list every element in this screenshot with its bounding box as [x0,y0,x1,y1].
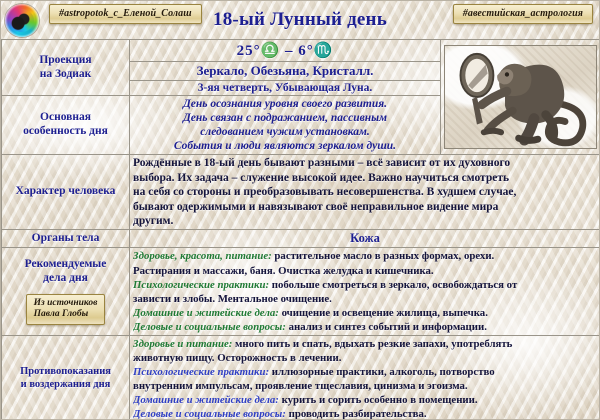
list-item: внутренним импульсам, проявление тщеслав… [133,379,597,393]
row-label-character: Характер человека [2,155,130,230]
source-globa-badge: Из источниковПавла Глобы [26,294,106,325]
list-item: Психологические практики: иллюзорные пра… [133,365,597,379]
row-label-recommended: Рекомендуемыедела дня Из источниковПавла… [2,248,130,335]
row-label-body-organs: Органы тела [2,230,130,248]
row-value-main-feature: День осознания уровня своего развития. Д… [130,96,441,155]
item-key: Здоровье и питание: [133,338,232,350]
item-text: внутренним импульсам, проявление тщеслав… [133,380,468,392]
item-key: Домашние и житейские дела: [133,307,279,319]
list-item: Деловые и социальные вопросы: анализ и с… [133,320,597,334]
item-key: Здоровье, красота, питание: [133,250,272,262]
text-line: бывают одержимыми и навязывают своё непр… [133,200,597,214]
list-item: Деловые и социальные вопросы: проводить … [133,407,597,420]
header: #astropotok_с_Еленой_Солаш 18-ый Лунный … [1,1,599,39]
row-value-contraindications: Здоровье и питание: много пить и спать, … [130,335,600,420]
item-key: Домашние и житейские дела: [133,394,279,406]
item-key: Психологические практики: [133,366,269,378]
text-line: следованием чужим установкам. [133,125,437,139]
text-line: День связан с подражанием, пассивным [133,111,437,125]
item-text: зависти и злобы. Ментальное очищение. [133,293,332,305]
item-text: животную пищу. Осторожность в лечении. [133,352,341,364]
monkey-with-mirror-illustration [441,40,600,155]
item-text: побольше смотреться в зеркало, освобожда… [272,279,517,291]
text-line: События и люди являются зеркалом души. [133,139,437,153]
list-item: Здоровье и питание: много пить и спать, … [133,337,597,351]
item-text: анализ и синтез событий и информации. [289,321,487,333]
hashtag-topic-badge: #авестийская_астрология [453,4,593,24]
list-item: Домашние и житейские дела: очищение и ос… [133,306,597,320]
item-text: много пить и спать, вдыхать резкие запах… [235,338,512,350]
row-value-body-organs: Кожа [130,230,600,248]
item-text: Растирания и массажи, баня. Очистка желу… [133,265,434,277]
item-text: проводить разбирательства. [289,408,427,420]
list-item: животную пищу. Осторожность в лечении. [133,351,597,365]
item-text: иллюзорные практики, алкоголь, потворств… [272,366,495,378]
table-row: Характер человека Рождённые в 18-ый день… [2,155,600,230]
list-item: зависти и злобы. Ментальное очищение. [133,292,597,306]
lunar-day-table: Проекцияна Зодиак 25°♎ – 6°♏ [1,39,600,420]
row-value-projection: 25°♎ – 6°♏ [130,40,441,62]
item-text: курить и сорить особенно в помещении. [282,394,478,406]
list-item: Домашние и житейские дела: курить и сори… [133,393,597,407]
item-text: растительное масло в разных формах, орех… [274,250,494,262]
table-row: Органы тела Кожа [2,230,600,248]
row-label-recommended-text: Рекомендуемыедела дня [5,258,126,285]
row-label-main-feature: Основнаяособенность дня [2,96,130,155]
text-line: Рождённые в 18-ый день бывают разными – … [133,156,597,170]
item-key: Психологические практики: [133,279,269,291]
list-item: Растирания и массажи, баня. Очистка желу… [133,264,597,278]
item-key: Деловые и социальные вопросы: [133,321,286,333]
row-value-symbol: Зеркало, Обезьяна, Кристалл. [130,62,441,81]
text-line: другим. [133,214,597,228]
row-value-character: Рождённые в 18-ый день бывают разными – … [130,155,600,230]
row-value-recommended: Здоровье, красота, питание: растительное… [130,248,600,335]
item-key: Деловые и социальные вопросы: [133,408,286,420]
list-item: Психологические практики: побольше смотр… [133,278,597,292]
table-row: Проекцияна Зодиак 25°♎ – 6°♏ [2,40,600,62]
table-row: Рекомендуемыедела дня Из источниковПавла… [2,248,600,335]
row-label-projection: Проекцияна Зодиак [2,40,130,96]
lunar-day-infographic: #astropotok_с_Еленой_Солаш 18-ый Лунный … [0,0,600,420]
list-item: Здоровье, красота, питание: растительное… [133,249,597,263]
table-row: Противопоказанияи воздержания дня Здоров… [2,335,600,420]
row-label-contraindications: Противопоказанияи воздержания дня [2,335,130,420]
text-line: на себя со стороны и преобразовывать нес… [133,185,597,199]
item-text: очищение и освещение жилища, выпечка. [282,307,488,319]
row-value-phase: 3-яя четверть, Убывающая Луна. [130,81,441,96]
text-line: выбора. Их задача – служение высокой иде… [133,171,597,185]
text-line: День осознания уровня своего развития. [133,97,437,111]
